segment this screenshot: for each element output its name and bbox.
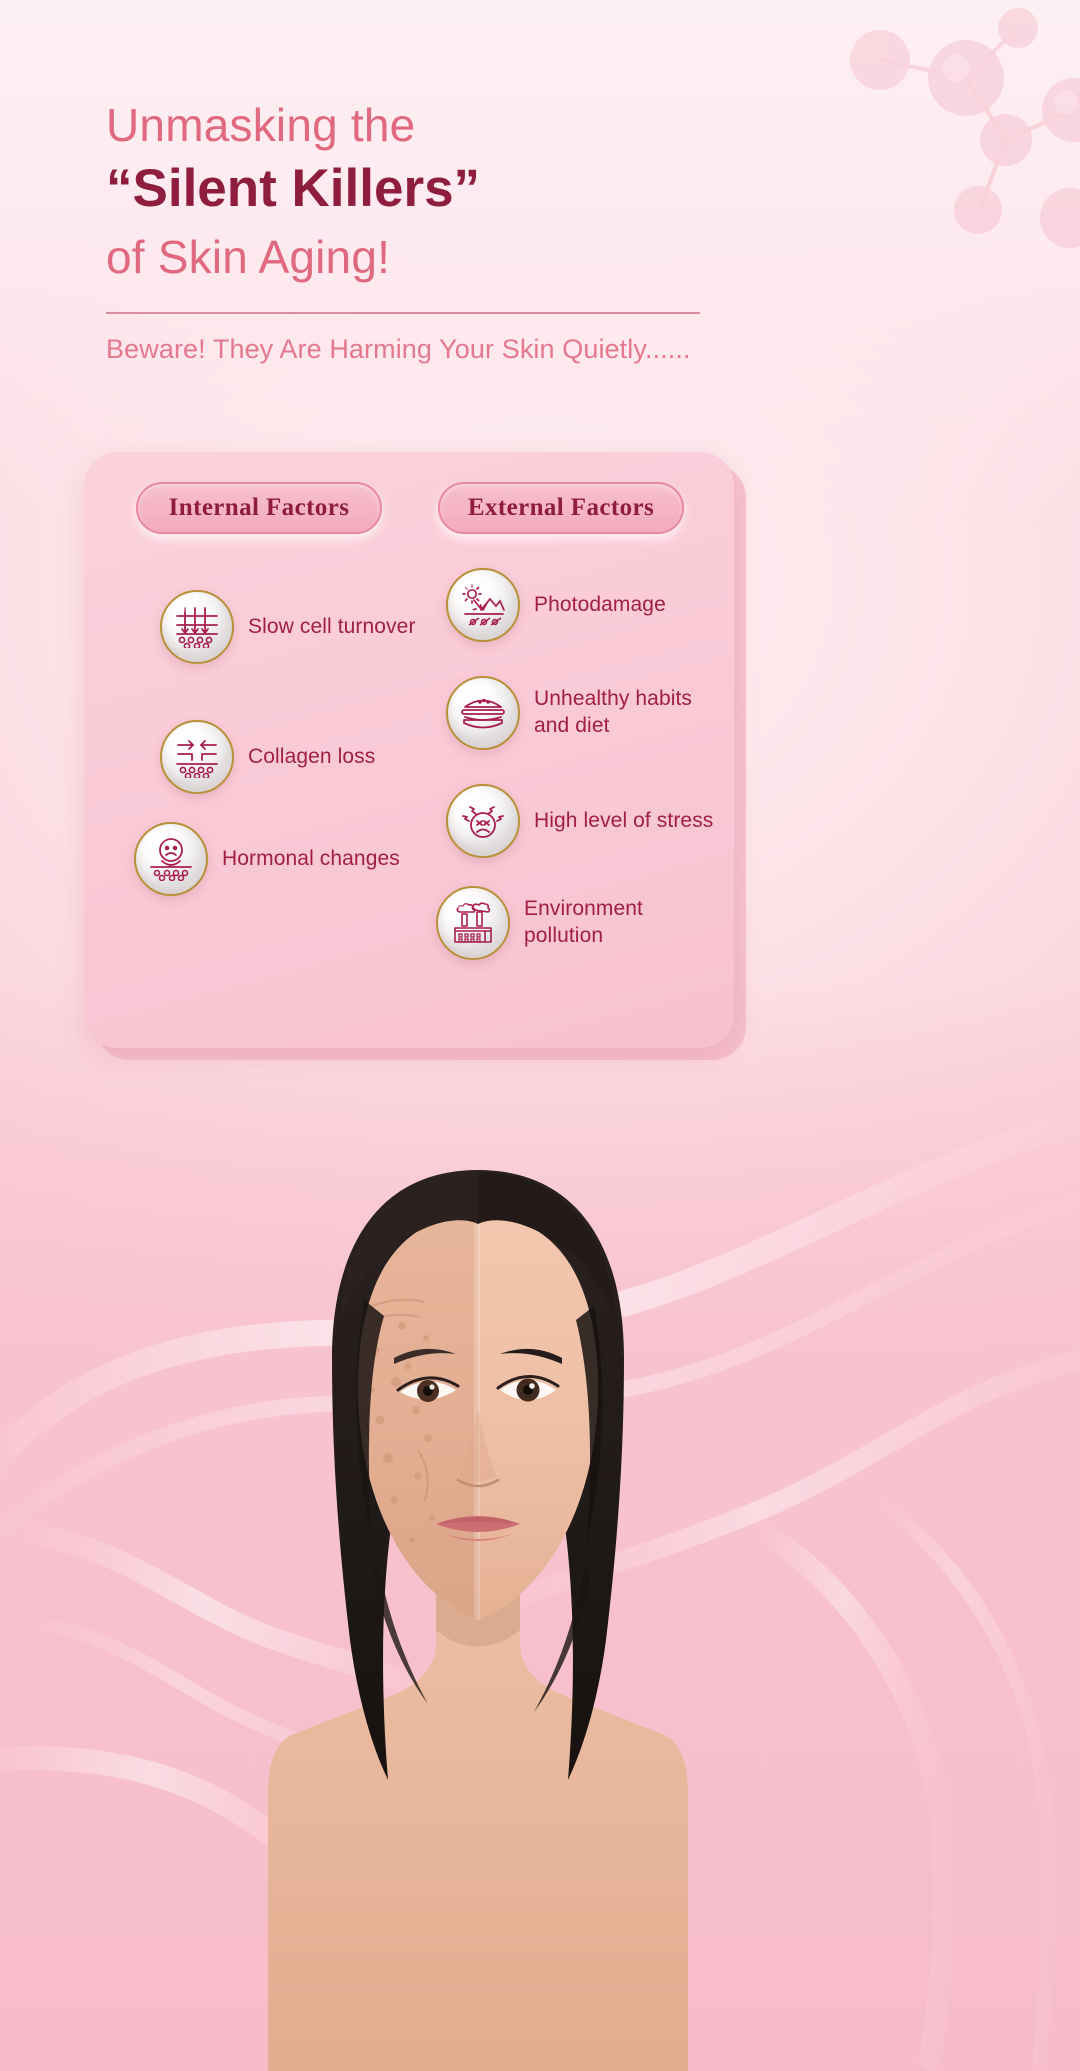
- sad-face-skin-icon: [134, 822, 208, 896]
- factor-label: Collagen loss: [248, 744, 375, 771]
- collagen-arrows-icon: [160, 720, 234, 794]
- headline-line-3: of Skin Aging!: [106, 228, 746, 288]
- sun-uv-rays-icon: [446, 568, 520, 642]
- factor-label: Environment pollution: [524, 896, 643, 950]
- factor-item[interactable]: Photodamage: [446, 568, 726, 642]
- half-aged-half-young-face-photo: [268, 1120, 688, 2071]
- headline-line-1: Unmasking the: [106, 96, 746, 155]
- angry-stress-face-icon: [446, 784, 520, 858]
- factor-item[interactable]: High level of stress: [446, 784, 726, 858]
- portrait-area: [0, 1095, 1080, 2071]
- factor-item[interactable]: Unhealthy habits and diet: [446, 676, 726, 750]
- burger-icon: [446, 676, 520, 750]
- external-factors-column: External Factors: [436, 452, 726, 960]
- factor-label: High level of stress: [534, 808, 713, 835]
- headline-line-2: “Silent Killers”: [106, 157, 746, 222]
- subtitle-text: Beware! They Are Harming Your Skin Quiet…: [106, 334, 806, 365]
- factor-label: Photodamage: [534, 592, 666, 619]
- internal-factors-badge[interactable]: Internal Factors: [136, 482, 382, 534]
- factor-item[interactable]: Slow cell turnover: [160, 590, 434, 664]
- factor-label: Slow cell turnover: [248, 614, 416, 641]
- factor-item[interactable]: Collagen loss: [160, 720, 434, 794]
- header-divider: [106, 312, 700, 314]
- external-factors-badge[interactable]: External Factors: [438, 482, 684, 534]
- factor-label: Unhealthy habits and diet: [534, 686, 692, 740]
- internal-factors-column: Internal Factors: [134, 452, 434, 896]
- poster-canvas: Unmasking the “Silent Killers” of Skin A…: [0, 0, 1080, 2071]
- factor-label: Hormonal changes: [222, 846, 400, 873]
- factory-smoke-icon: [436, 886, 510, 960]
- factor-item[interactable]: Environment pollution: [436, 886, 726, 960]
- molecule-icon: [770, 0, 1080, 300]
- skin-layers-cell-turnover-icon: [160, 590, 234, 664]
- factor-item[interactable]: Hormonal changes: [134, 822, 434, 896]
- external-factors-badge-label: External Factors: [468, 494, 654, 522]
- factors-card: Internal Factors: [84, 452, 734, 1048]
- internal-factors-badge-label: Internal Factors: [169, 494, 350, 522]
- header-block: Unmasking the “Silent Killers” of Skin A…: [106, 96, 746, 287]
